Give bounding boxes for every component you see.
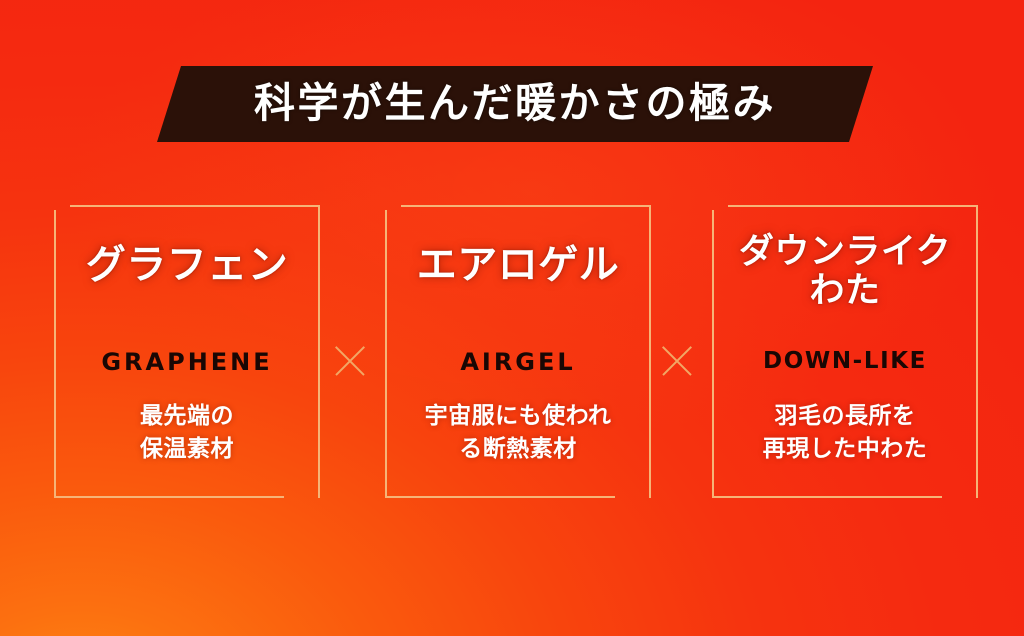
card-description: 宇宙服にも使われ る断熱素材	[385, 400, 651, 465]
card-description: 羽毛の長所を 再現した中わた	[712, 400, 978, 465]
card-frame-top	[728, 205, 978, 207]
cross-separator-icon	[330, 340, 370, 380]
card-description: 最先端の 保温素材	[54, 400, 320, 465]
material-card-airgel: エアロゲル AIRGEL 宇宙服にも使われ る断熱素材	[385, 205, 651, 498]
cross-separator-icon	[657, 340, 697, 380]
card-frame-top	[70, 205, 320, 207]
title-banner: 科学が生んだ暖かさの極み	[157, 66, 873, 142]
material-card-graphene: グラフェン GRAPHENE 最先端の 保温素材	[54, 205, 320, 498]
card-frame-bottom	[54, 496, 284, 498]
material-card-row: グラフェン GRAPHENE 最先端の 保温素材 エアロゲル AIRGEL 宇宙…	[0, 205, 1024, 500]
card-title-en: AIRGEL	[385, 348, 651, 376]
card-frame-top	[401, 205, 651, 207]
card-title-en: DOWN-LIKE	[712, 348, 978, 374]
card-frame-bottom	[712, 496, 942, 498]
card-title-en: GRAPHENE	[54, 348, 320, 376]
card-title-jp: グラフェン	[54, 243, 320, 288]
page-title: 科学が生んだ暖かさの極み	[254, 83, 776, 124]
card-frame-bottom	[385, 496, 615, 498]
material-card-down-like: ダウンライク わた DOWN-LIKE 羽毛の長所を 再現した中わた	[712, 205, 978, 498]
card-title-jp: エアロゲル	[385, 243, 651, 288]
card-title-jp: ダウンライク わた	[712, 233, 978, 311]
promo-slide: 科学が生んだ暖かさの極み グラフェン GRAPHENE 最先端の 保温素材 エア…	[0, 0, 1024, 636]
